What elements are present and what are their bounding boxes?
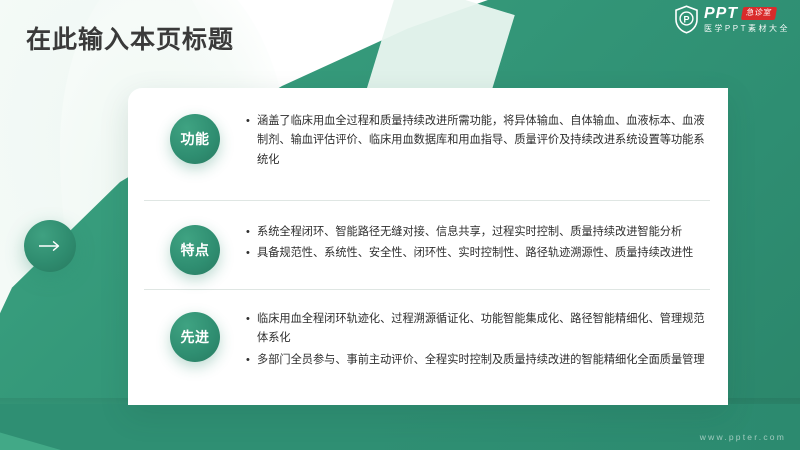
section-badge-advanced[interactable]: 先进: [170, 312, 220, 362]
arrow-right-icon: [37, 240, 63, 252]
logo-text-block: PPT 急诊室 医学PPT素材大全: [704, 6, 790, 34]
content-card: 功能 • 涵盖了临床用血全过程和质量持续改进所需功能，将异体输血、自体输血、血液…: [128, 88, 728, 405]
bullet-text: 系统全程闭环、智能路径无缝对接、信息共享，过程实时控制、质量持续改进智能分析: [257, 223, 706, 242]
section-badge-function[interactable]: 功能: [170, 114, 220, 164]
bullet-text: 具备规范性、系统性、安全性、闭环性、实时控制性、路径轨迹溯源性、质量持续改进性: [257, 244, 706, 263]
bullet-list-function: • 涵盖了临床用血全过程和质量持续改进所需功能，将异体输血、自体输血、血液标本、…: [246, 112, 710, 172]
logo-brand-text: PPT: [704, 6, 738, 22]
next-arrow-button[interactable]: [24, 220, 76, 272]
content-row-features: 特点 • 系统全程闭环、智能路径无缝对接、信息共享，过程实时控制、质量持续改进智…: [128, 201, 728, 289]
bullet-dot-icon: •: [246, 351, 257, 370]
bullet-text: 涵盖了临床用血全过程和质量持续改进所需功能，将异体输血、自体输血、血液标本、血液…: [257, 112, 706, 170]
slide-canvas: 在此输入本页标题 P PPT 急诊室 医学PPT素材大全: [0, 0, 800, 450]
logo-primary-row: PPT 急诊室: [704, 6, 790, 22]
page-title: 在此输入本页标题: [26, 20, 234, 56]
bullet-dot-icon: •: [246, 244, 257, 263]
list-item: • 多部门全员参与、事前主动评价、全程实时控制及质量持续改进的智能精细化全面质量…: [246, 351, 706, 370]
content-row-function: 功能 • 涵盖了临床用血全过程和质量持续改进所需功能，将异体输血、自体输血、血液…: [128, 88, 728, 200]
content-row-advanced: 先进 • 临床用血全程闭环轨迹化、过程溯源循证化、功能智能集成化、路径智能精细化…: [128, 290, 728, 400]
list-item: • 系统全程闭环、智能路径无缝对接、信息共享，过程实时控制、质量持续改进智能分析: [246, 223, 706, 242]
bullet-dot-icon: •: [246, 223, 257, 242]
bullet-list-advanced: • 临床用血全程闭环轨迹化、过程溯源循证化、功能智能集成化、路径智能精细化、管理…: [246, 310, 710, 372]
bullet-list-features: • 系统全程闭环、智能路径无缝对接、信息共享，过程实时控制、质量持续改进智能分析…: [246, 223, 710, 266]
logo-subtitle: 医学PPT素材大全: [704, 23, 790, 34]
bullet-dot-icon: •: [246, 310, 257, 349]
bullet-text: 多部门全员参与、事前主动评价、全程实时控制及质量持续改进的智能精细化全面质量管理: [257, 351, 706, 370]
bullet-dot-icon: •: [246, 112, 257, 170]
list-item: • 临床用血全程闭环轨迹化、过程溯源循证化、功能智能集成化、路径智能精细化、管理…: [246, 310, 706, 349]
bullet-text: 临床用血全程闭环轨迹化、过程溯源循证化、功能智能集成化、路径智能精细化、管理规范…: [257, 310, 706, 349]
logo-badge: 急诊室: [741, 7, 777, 20]
section-badge-features[interactable]: 特点: [170, 225, 220, 275]
watermark: www.ppter.com: [700, 432, 786, 442]
shield-icon: P: [674, 5, 699, 34]
svg-text:P: P: [683, 14, 689, 24]
brand-logo[interactable]: P PPT 急诊室 医学PPT素材大全: [674, 5, 790, 34]
list-item: • 涵盖了临床用血全过程和质量持续改进所需功能，将异体输血、自体输血、血液标本、…: [246, 112, 706, 170]
footer-strip: [0, 404, 800, 450]
list-item: • 具备规范性、系统性、安全性、闭环性、实时控制性、路径轨迹溯源性、质量持续改进…: [246, 244, 706, 263]
